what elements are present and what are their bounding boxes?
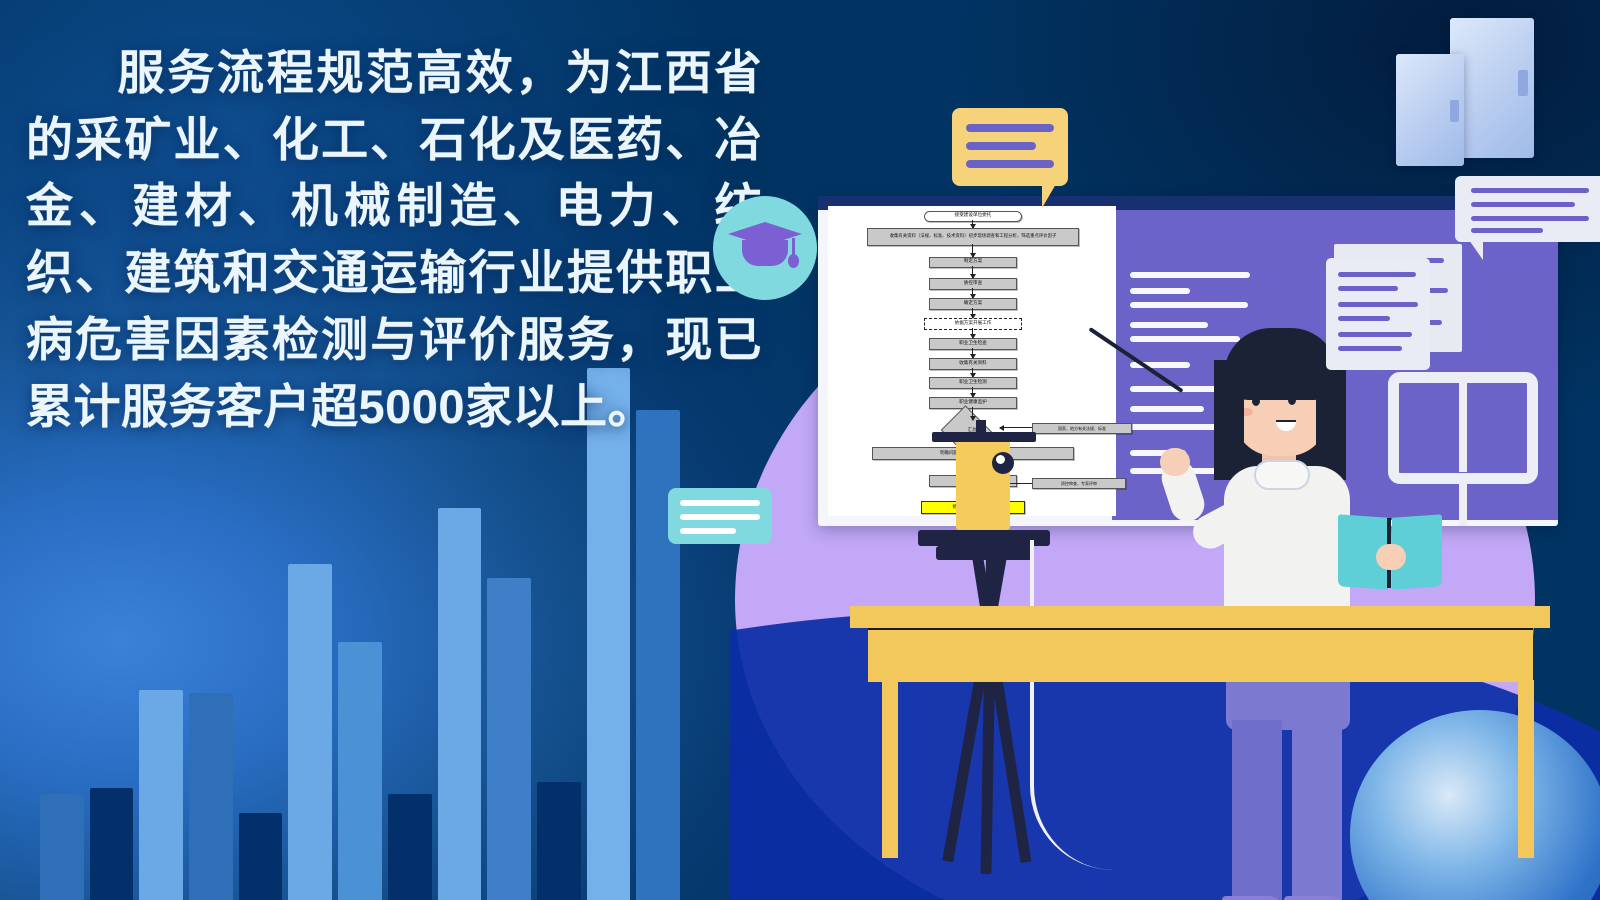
document-text-line: [1471, 202, 1575, 207]
flow-node-n4: 质控审查: [929, 278, 1017, 290]
graduation-cap-knot: [788, 254, 799, 268]
projector-mount-plate: [932, 432, 1036, 442]
flow-node-n9: 职业卫生检测: [929, 377, 1017, 389]
document-card-line: [1338, 346, 1402, 351]
flow-node-n3: 制定方案: [929, 257, 1017, 269]
note-text-line: [680, 528, 736, 534]
document-text-line: [1471, 216, 1589, 221]
presenter-shoe-right: [1284, 896, 1346, 900]
document-card-line: [1338, 302, 1418, 307]
flow-node-n10: 职业健康监护: [929, 397, 1017, 409]
chart-bar: [537, 782, 581, 900]
poster-canvas: 服务流程规范高效，为江西省的采矿业、化工、石化及医药、冶金、建材、机械制造、电力…: [0, 0, 1600, 900]
chart-bar: [438, 508, 482, 900]
flow-arrow: [972, 407, 973, 420]
chart-bar: [587, 368, 631, 900]
document-card-line: [1338, 316, 1390, 321]
bubble-text-line: [966, 160, 1054, 168]
open-book-spine: [1459, 380, 1467, 472]
projector-lens: [992, 452, 1014, 474]
flow-arrow: [972, 308, 973, 318]
bubble-text-line: [966, 142, 1036, 150]
chart-bar: [636, 410, 680, 900]
flow-node-n7: 职业卫生检查: [929, 338, 1017, 350]
open-book-stand: [1459, 480, 1467, 526]
desk-top-surface: [850, 606, 1550, 628]
screen-text-line: [1130, 288, 1190, 294]
desk-leg-right: [1518, 680, 1534, 858]
headline-text: 服务流程规范高效，为江西省的采矿业、化工、石化及医药、冶金、建材、机械制造、电力…: [26, 46, 762, 433]
presenter-hair-left: [1214, 360, 1244, 480]
books-icon: [1392, 8, 1526, 176]
flow-node-n6: 依据方案开展工作: [924, 318, 1022, 330]
document-card-line: [1338, 272, 1416, 277]
graduation-cap-board: [728, 222, 802, 248]
flow-arrow: [972, 368, 973, 378]
chart-bar: [40, 794, 84, 900]
flow-node-n8: 收集有关资料: [929, 358, 1017, 370]
bubble-text-line: [966, 124, 1054, 132]
chart-bar: [388, 794, 432, 900]
document-card-icon: [1326, 258, 1430, 370]
chart-bar: [239, 813, 283, 900]
desk-leg-left: [882, 680, 898, 858]
flow-arrow: [972, 220, 973, 228]
graduation-cap-icon: [728, 222, 802, 272]
chart-bar: [338, 642, 382, 900]
tripod-head-lower: [936, 546, 1032, 560]
presenter-figure: [1170, 300, 1430, 880]
flow-side-arrow: [1000, 427, 1032, 428]
flow-node-n1: 接受建设单位委托: [924, 211, 1022, 222]
flow-node-n2: 收集有关资料（法规、标准、技术资料）初步现场调查和工程分析，筛选重点评价因子: [867, 228, 1079, 246]
presenter-left-hand: [1376, 544, 1406, 570]
open-book-right-page: [1470, 386, 1524, 464]
flow-arrow: [972, 288, 973, 299]
presenter-shoe-left: [1222, 896, 1284, 900]
flow-side-node-s2: 质控审查、专家评审: [1032, 478, 1126, 489]
headline-paragraph: 服务流程规范高效，为江西省的采矿业、化工、石化及医药、冶金、建材、机械制造、电力…: [26, 40, 762, 440]
flow-arrow: [972, 266, 973, 277]
document-text-line: [1471, 188, 1589, 193]
speech-bubble-icon: [952, 108, 1068, 186]
document-bubble-icon: [1455, 176, 1600, 242]
chart-bar: [139, 690, 183, 900]
flow-side-node-s1: 国家、地方有关法规、标准: [1032, 423, 1132, 434]
chart-bar: [189, 693, 233, 900]
chart-bar: [487, 578, 531, 900]
note-text-line: [680, 500, 760, 506]
flow-arrow: [972, 328, 973, 339]
presenter-leg-left: [1232, 720, 1282, 900]
screen-text-line: [1130, 272, 1250, 278]
chart-bar: [90, 788, 134, 900]
presenter-hair-right: [1316, 360, 1346, 480]
document-text-line: [1471, 228, 1543, 233]
chart-bar: [288, 564, 332, 900]
flow-arrow: [972, 348, 973, 358]
flow-arrow: [972, 387, 973, 397]
projector-cable: [1030, 540, 1114, 870]
flow-arrow: [972, 244, 973, 256]
book-large-spine-label: [1518, 70, 1528, 96]
book-small-spine-label: [1450, 100, 1459, 122]
flow-node-n5: 确定方案: [929, 298, 1017, 310]
document-card-line: [1338, 332, 1412, 337]
desk-apron: [868, 628, 1533, 682]
presenter-right-hand: [1160, 448, 1190, 476]
presenter-leg-right: [1292, 720, 1342, 900]
presenter-collar: [1254, 460, 1310, 490]
document-card-line: [1338, 286, 1398, 291]
note-text-line: [680, 514, 760, 520]
note-card-icon: [668, 488, 772, 544]
